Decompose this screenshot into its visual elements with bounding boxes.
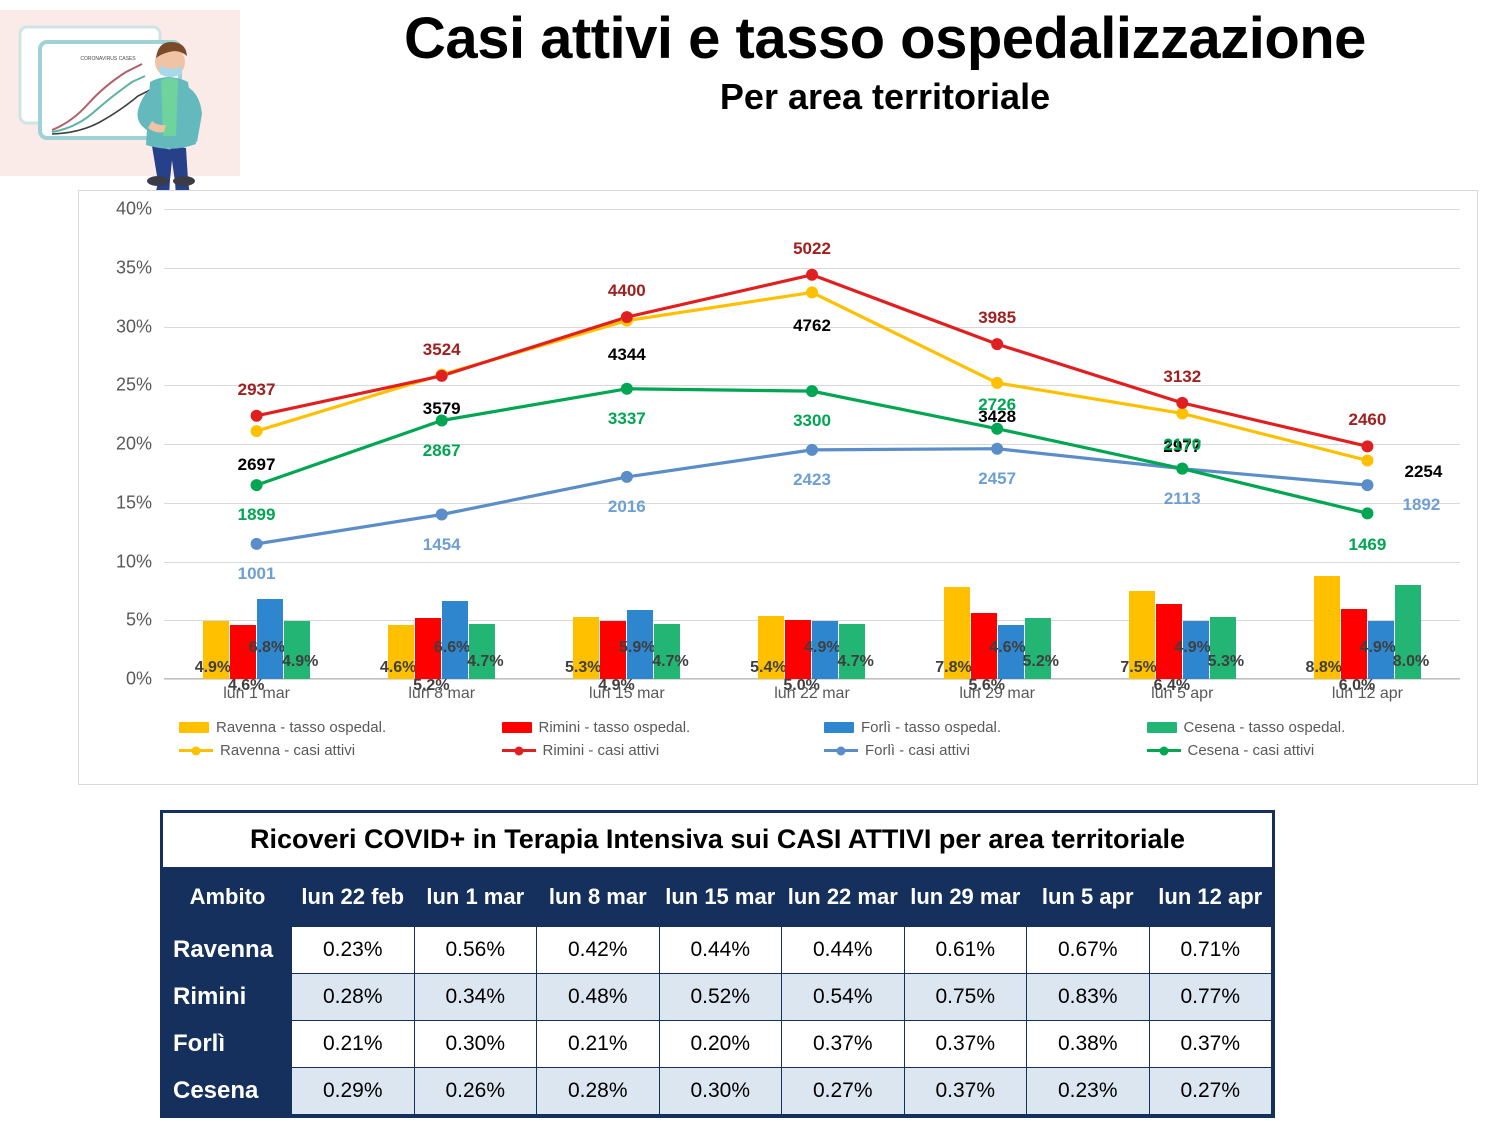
- line-value-label: 4400: [608, 281, 646, 301]
- legend-swatch: [824, 722, 854, 733]
- table-cell: 0.61%: [904, 927, 1027, 974]
- table-cell: 0.34%: [414, 974, 537, 1021]
- y-axis-tick-label: 5%: [126, 610, 152, 631]
- legend-label: Forlì - casi attivi: [865, 742, 970, 759]
- table-cell: 0.30%: [414, 1021, 537, 1068]
- table-row-header: Rimini: [164, 974, 292, 1021]
- legend-label: Ravenna - tasso ospedal.: [216, 719, 386, 736]
- table-cell: 0.37%: [1149, 1021, 1272, 1068]
- line-data-point[interactable]: [806, 286, 818, 298]
- table-row: Ravenna0.23%0.56%0.42%0.44%0.44%0.61%0.6…: [164, 927, 1272, 974]
- table-cell: 0.44%: [782, 927, 905, 974]
- x-axis-category-label: lun 12 apr: [1275, 685, 1460, 713]
- legend-label: Forlì - tasso ospedal.: [861, 719, 1001, 736]
- table-cell: 0.67%: [1027, 927, 1150, 974]
- line-value-label: 5022: [793, 239, 831, 259]
- table-cell: 0.42%: [537, 927, 660, 974]
- table-row-header: Forlì: [164, 1021, 292, 1068]
- table-cell: 0.83%: [1027, 974, 1150, 1021]
- x-axis-category-label: lun 5 apr: [1090, 685, 1275, 713]
- legend-label: Cesena - tasso ospedal.: [1184, 719, 1346, 736]
- line-value-label: 2170: [1163, 435, 1201, 455]
- legend-line-marker: [502, 745, 536, 756]
- chart-legend: Ravenna - tasso ospedal.Rimini - tasso o…: [179, 719, 1469, 759]
- legend-label: Rimini - tasso ospedal.: [539, 719, 691, 736]
- line-value-label: 2016: [608, 497, 646, 517]
- y-axis-tick-label: 15%: [116, 492, 152, 513]
- line-data-point[interactable]: [806, 444, 818, 456]
- table-cell: 0.44%: [659, 927, 782, 974]
- line-value-label: 3132: [1163, 367, 1201, 387]
- legend-label: Cesena - casi attivi: [1188, 742, 1315, 759]
- legend-item-line[interactable]: Ravenna - casi attivi: [179, 742, 502, 759]
- table-cell: 0.27%: [782, 1068, 905, 1115]
- line-data-point[interactable]: [251, 538, 263, 550]
- table-row-header: Cesena: [164, 1068, 292, 1115]
- line-value-label: 1454: [423, 535, 461, 555]
- table-cell: 0.28%: [537, 1068, 660, 1115]
- doctor-presenting-chart-illustration: CORONAVIRUS CASES: [0, 0, 262, 190]
- table-cell: 0.28%: [292, 974, 415, 1021]
- line-data-point[interactable]: [991, 338, 1003, 350]
- table-body: Ravenna0.23%0.56%0.42%0.44%0.44%0.61%0.6…: [164, 927, 1272, 1115]
- table-cell: 0.37%: [904, 1068, 1027, 1115]
- line-data-point[interactable]: [251, 425, 263, 437]
- table-cell: 0.21%: [292, 1021, 415, 1068]
- line-data-point[interactable]: [806, 269, 818, 281]
- table-cell: 0.77%: [1149, 974, 1272, 1021]
- legend-swatch: [179, 722, 209, 733]
- line-data-point[interactable]: [991, 443, 1003, 455]
- legend-line-marker: [179, 745, 213, 756]
- table-cell: 0.26%: [414, 1068, 537, 1115]
- x-axis-labels: lun 1 marlun 8 marlun 15 marlun 22 marlu…: [164, 685, 1460, 713]
- title-block: Casi attivi e tasso ospedalizzazione Per…: [280, 8, 1490, 118]
- line-series-overlay: [164, 209, 1460, 679]
- line-value-label: 1001: [238, 564, 276, 584]
- table-column-header: lun 15 mar: [659, 868, 782, 927]
- table-cell: 0.48%: [537, 974, 660, 1021]
- line-series: [257, 449, 1368, 544]
- x-axis-category-label: lun 15 mar: [534, 685, 719, 713]
- line-value-label: 2867: [423, 441, 461, 461]
- line-data-point[interactable]: [1361, 507, 1373, 519]
- line-value-label: 2423: [793, 470, 831, 490]
- line-value-label: 2113: [1164, 489, 1201, 509]
- line-data-point[interactable]: [621, 471, 633, 483]
- table-column-header: lun 22 mar: [782, 868, 905, 927]
- x-axis-category-label: lun 1 mar: [164, 685, 349, 713]
- y-axis-tick-label: 0%: [126, 669, 152, 690]
- y-axis-tick-label: 30%: [116, 316, 152, 337]
- svg-text:CORONAVIRUS CASES: CORONAVIRUS CASES: [80, 56, 136, 62]
- table-row: Cesena0.29%0.26%0.28%0.30%0.27%0.37%0.23…: [164, 1068, 1272, 1115]
- legend-line-marker: [1147, 745, 1181, 756]
- line-data-point[interactable]: [251, 410, 263, 422]
- line-data-point[interactable]: [991, 377, 1003, 389]
- table-title: Ricoveri COVID+ in Terapia Intensiva sui…: [163, 813, 1272, 867]
- table-cell: 0.29%: [292, 1068, 415, 1115]
- table-column-header: lun 5 apr: [1027, 868, 1150, 927]
- line-value-label: 2697: [238, 455, 276, 475]
- table-column-header: lun 12 apr: [1149, 868, 1272, 927]
- table-cell: 0.23%: [292, 927, 415, 974]
- line-data-point[interactable]: [806, 385, 818, 397]
- legend-item-bar[interactable]: Rimini - tasso ospedal.: [502, 719, 825, 736]
- line-value-label: 1899: [238, 505, 276, 525]
- line-value-label: 4344: [608, 345, 646, 365]
- legend-label: Ravenna - casi attivi: [220, 742, 355, 759]
- legend-item-bar[interactable]: Cesena - tasso ospedal.: [1147, 719, 1470, 736]
- table-cell: 0.37%: [904, 1021, 1027, 1068]
- table-cell: 0.71%: [1149, 927, 1272, 974]
- line-value-label: 2937: [238, 380, 276, 400]
- line-data-point[interactable]: [1361, 479, 1373, 491]
- line-data-point[interactable]: [621, 311, 633, 323]
- line-data-point[interactable]: [621, 383, 633, 395]
- table-cell: 0.30%: [659, 1068, 782, 1115]
- page-title: Casi attivi e tasso ospedalizzazione: [280, 8, 1490, 71]
- line-value-label: 3579: [423, 399, 461, 419]
- y-axis-tick-label: 35%: [116, 257, 152, 278]
- legend-item-bar[interactable]: Ravenna - tasso ospedal.: [179, 719, 502, 736]
- y-axis-tick-label: 25%: [116, 375, 152, 396]
- table-cell: 0.52%: [659, 974, 782, 1021]
- table-cell: 0.27%: [1149, 1068, 1272, 1115]
- line-value-label: 2457: [978, 469, 1016, 489]
- table-column-header: lun 8 mar: [537, 868, 660, 927]
- line-value-label: 3337: [608, 409, 646, 429]
- table-column-header: lun 22 feb: [292, 868, 415, 927]
- legend-item-line[interactable]: Rimini - casi attivi: [502, 742, 825, 759]
- table-cell: 0.21%: [537, 1021, 660, 1068]
- legend-item-bar[interactable]: Forlì - tasso ospedal.: [824, 719, 1147, 736]
- table-cell: 0.56%: [414, 927, 537, 974]
- table-grid: Ambitolun 22 feblun 1 marlun 8 marlun 15…: [163, 867, 1272, 1115]
- y-axis-tick-label: 20%: [116, 434, 152, 455]
- line-data-point[interactable]: [1176, 463, 1188, 475]
- line-data-point[interactable]: [1176, 407, 1188, 419]
- legend-swatch: [502, 722, 532, 733]
- ti-table: Ricoveri COVID+ in Terapia Intensiva sui…: [160, 810, 1275, 1118]
- legend-label: Rimini - casi attivi: [543, 742, 660, 759]
- table-cell: 0.38%: [1027, 1021, 1150, 1068]
- x-axis-category-label: lun 22 mar: [719, 685, 904, 713]
- legend-item-line[interactable]: Cesena - casi attivi: [1147, 742, 1470, 759]
- line-value-label: 1892: [1403, 495, 1441, 515]
- chart-plot-area: 0%5%10%15%20%25%30%35%40%4.9%4.6%6.8%4.9…: [164, 209, 1460, 679]
- y-axis-tick-label: 40%: [116, 199, 152, 220]
- line-data-point[interactable]: [1361, 454, 1373, 466]
- line-value-label: 2254: [1405, 462, 1443, 482]
- table-column-header: lun 1 mar: [414, 868, 537, 927]
- table-column-header: lun 29 mar: [904, 868, 1027, 927]
- table-row: Forlì0.21%0.30%0.21%0.20%0.37%0.37%0.38%…: [164, 1021, 1272, 1068]
- legend-item-line[interactable]: Forlì - casi attivi: [824, 742, 1147, 759]
- line-value-label: 3985: [978, 308, 1016, 328]
- x-axis-category-label: lun 8 mar: [349, 685, 534, 713]
- line-value-label: 4762: [793, 316, 831, 336]
- legend-swatch: [1147, 722, 1177, 733]
- table-cell: 0.23%: [1027, 1068, 1150, 1115]
- table-row: Rimini0.28%0.34%0.48%0.52%0.54%0.75%0.83…: [164, 974, 1272, 1021]
- chart-container: 0%5%10%15%20%25%30%35%40%4.9%4.6%6.8%4.9…: [78, 190, 1478, 785]
- table-cell: 0.37%: [782, 1021, 905, 1068]
- x-axis-category-label: lun 29 mar: [905, 685, 1090, 713]
- line-data-point[interactable]: [436, 370, 448, 382]
- table-cell: 0.75%: [904, 974, 1027, 1021]
- table-header-row: Ambitolun 22 feblun 1 marlun 8 marlun 15…: [164, 868, 1272, 927]
- y-axis-tick-label: 10%: [116, 551, 152, 572]
- line-data-point[interactable]: [436, 509, 448, 521]
- line-value-label: 2726: [978, 395, 1016, 415]
- line-data-point[interactable]: [251, 479, 263, 491]
- page-subtitle: Per area territoriale: [280, 75, 1490, 118]
- slide-root: CORONAVIRUS CASES Casi attivi e tasso os…: [0, 0, 1500, 1125]
- line-data-point[interactable]: [1176, 397, 1188, 409]
- line-data-point[interactable]: [1361, 440, 1373, 452]
- table-cell: 0.54%: [782, 974, 905, 1021]
- table-row-header: Ravenna: [164, 927, 292, 974]
- table-cell: 0.20%: [659, 1021, 782, 1068]
- line-value-label: 3524: [423, 340, 461, 360]
- legend-line-marker: [824, 745, 858, 756]
- line-value-label: 1469: [1349, 535, 1387, 555]
- line-value-label: 3300: [793, 411, 831, 431]
- table-column-header: Ambito: [164, 868, 292, 927]
- line-value-label: 2460: [1349, 410, 1387, 430]
